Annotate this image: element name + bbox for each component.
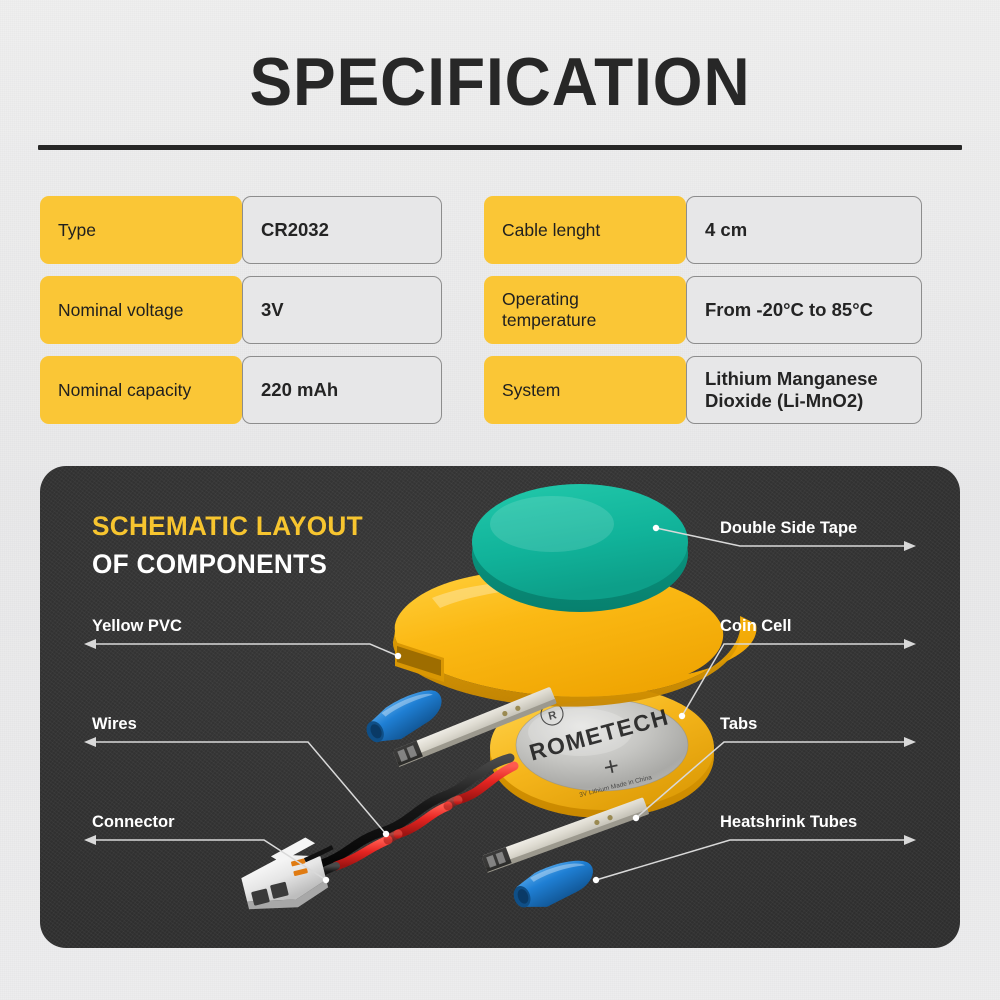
callout-label-heatshrink-tubes: Heatshrink Tubes <box>720 812 857 832</box>
title-divider <box>38 145 962 150</box>
schematic-panel: SCHEMATIC LAYOUT OF COMPONENTS <box>40 466 960 948</box>
page-title: SPECIFICATION <box>30 48 970 116</box>
exploded-assembly-illustration: ROMETECH + 3V Lithium Made in China R <box>40 466 960 948</box>
spec-key-nominal-capacity: Nominal capacity <box>40 356 242 424</box>
specification-table: Type CR2032 Cable lenght 4 cm Nominal vo… <box>40 196 962 424</box>
callout-label-coin-cell: Coin Cell <box>720 616 792 636</box>
spec-value-nominal-capacity: 220 mAh <box>242 356 442 424</box>
callout-label-tabs: Tabs <box>720 714 757 734</box>
spec-key-operating-temperature: Operating temperature <box>484 276 686 344</box>
callout-label-yellow-pvc: Yellow PVC <box>92 616 182 636</box>
callout-label-wires: Wires <box>92 714 137 734</box>
spec-key-cable-length: Cable lenght <box>484 196 686 264</box>
spec-value-system: Lithium Manganese Dioxide (Li-MnO2) <box>686 356 922 424</box>
double-side-tape-art <box>472 484 688 612</box>
spec-value-type: CR2032 <box>242 196 442 264</box>
callout-label-connector: Connector <box>92 812 175 832</box>
callout-label-double-side-tape: Double Side Tape <box>720 518 857 538</box>
spec-key-nominal-voltage: Nominal voltage <box>40 276 242 344</box>
spec-value-cable-length: 4 cm <box>686 196 922 264</box>
spec-key-type: Type <box>40 196 242 264</box>
spec-value-nominal-voltage: 3V <box>242 276 442 344</box>
connector-art <box>236 832 345 919</box>
spec-key-system: System <box>484 356 686 424</box>
spec-value-operating-temperature: From -20°C to 85°C <box>686 276 922 344</box>
heatshrink-tube-lower-art <box>508 853 600 916</box>
